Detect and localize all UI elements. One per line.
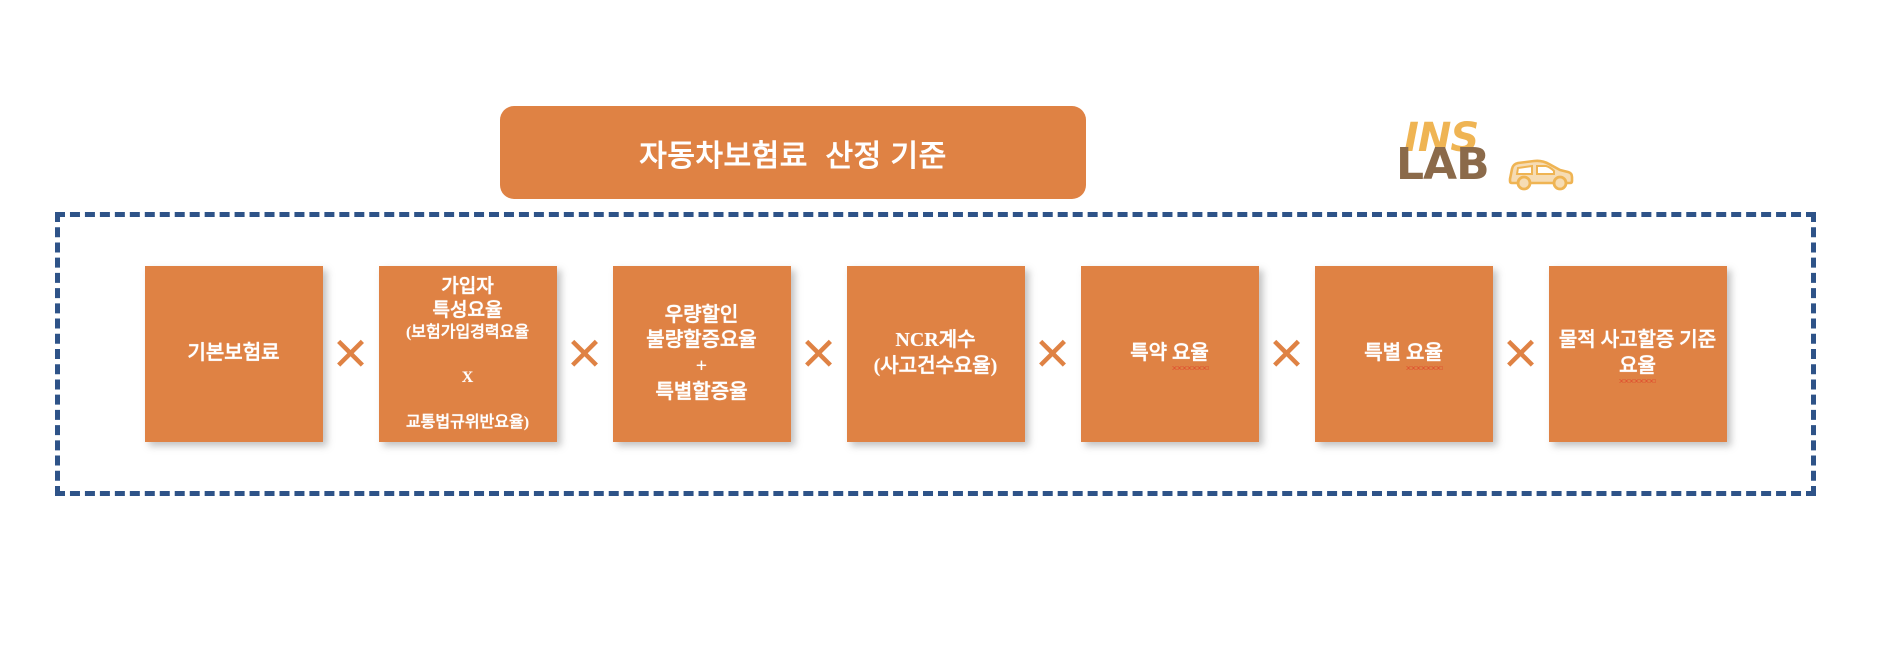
logo-text-lab: LAB xyxy=(1396,143,1489,187)
multiply-operator: ✕ xyxy=(1259,331,1315,377)
page-title: 자동차보험료 산정 기준 xyxy=(639,131,947,175)
spellcheck-underline: 요율 xyxy=(1172,341,1209,368)
multiply-operator: ✕ xyxy=(791,331,847,377)
brand-logo: INS LAB xyxy=(1396,118,1596,202)
spellcheck-underline: 요율 xyxy=(1406,341,1443,368)
multiply-operator: ✕ xyxy=(557,331,613,377)
factor-box-special-contract-rate: 특약 요율 xyxy=(1081,266,1259,442)
factor-label: 가입자특성요율(보험가입경력요율X교통법규위반요율) xyxy=(406,275,529,434)
factor-label: 특약 요율 xyxy=(1130,341,1209,368)
multiply-operator: ✕ xyxy=(1025,331,1081,377)
formula-container: 기본보험료✕가입자특성요율(보험가입경력요율X교통법규위반요율)✕우량할인불량할… xyxy=(55,212,1816,496)
car-icon xyxy=(1504,151,1576,191)
factor-box-special-rate: 특별 요율 xyxy=(1315,266,1493,442)
multiply-operator: ✕ xyxy=(323,331,379,377)
factor-label: 특별 요율 xyxy=(1364,341,1443,368)
spellcheck-underline: 요율 xyxy=(1619,354,1656,381)
multiply-operator: ✕ xyxy=(1493,331,1549,377)
factor-box-ncr-coefficient: NCR계수(사고건수요율) xyxy=(847,266,1025,442)
page-title-banner: 자동차보험료 산정 기준 xyxy=(500,106,1086,199)
formula-row: 기본보험료✕가입자특성요율(보험가입경력요율X교통법규위반요율)✕우량할인불량할… xyxy=(60,217,1811,491)
factor-label: NCR계수(사고건수요율) xyxy=(874,328,998,379)
factor-box-discount-surcharge-rate: 우량할인불량할증요율+특별할증율 xyxy=(613,266,791,442)
factor-label: 물적 사고할증 기준 요율 xyxy=(1551,328,1725,380)
factor-box-property-damage-surcharge-rate: 물적 사고할증 기준 요율 xyxy=(1549,266,1727,442)
factor-box-subscriber-characteristic-rate: 가입자특성요율(보험가입경력요율X교통법규위반요율) xyxy=(379,266,557,442)
factor-label: 기본보험료 xyxy=(188,341,280,367)
factor-box-base-premium: 기본보험료 xyxy=(145,266,323,442)
factor-label: 우량할인불량할증요율+특별할증율 xyxy=(646,303,756,405)
